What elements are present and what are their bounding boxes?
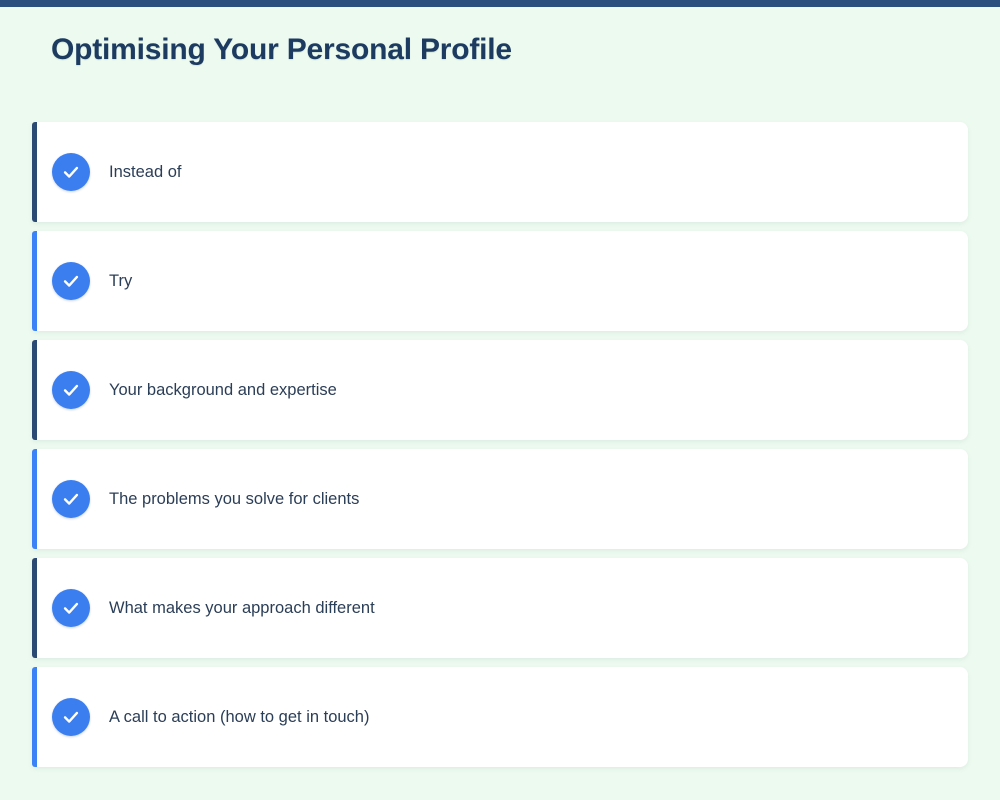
checklist-item-label: The problems you solve for clients <box>109 489 359 510</box>
check-circle-icon <box>52 262 90 300</box>
checklist-item-label: A call to action (how to get in touch) <box>109 707 369 728</box>
checklist-item[interactable]: Instead of <box>32 122 968 222</box>
checklist-item-label: What makes your approach different <box>109 598 375 619</box>
checklist-item[interactable]: What makes your approach different <box>32 558 968 658</box>
page-title: Optimising Your Personal Profile <box>51 33 512 67</box>
checklist-item-label: Try <box>109 271 132 292</box>
card-accent-bar <box>32 340 37 440</box>
check-circle-icon <box>52 589 90 627</box>
card-accent-bar <box>32 449 37 549</box>
checklist: Instead ofTryYour background and experti… <box>32 122 968 767</box>
checklist-item[interactable]: A call to action (how to get in touch) <box>32 667 968 767</box>
card-accent-bar <box>32 122 37 222</box>
checklist-item[interactable]: Your background and expertise <box>32 340 968 440</box>
checklist-item[interactable]: The problems you solve for clients <box>32 449 968 549</box>
check-circle-icon <box>52 698 90 736</box>
check-circle-icon <box>52 153 90 191</box>
checklist-item[interactable]: Try <box>32 231 968 331</box>
card-accent-bar <box>32 231 37 331</box>
checklist-item-label: Instead of <box>109 162 181 183</box>
card-accent-bar <box>32 667 37 767</box>
check-circle-icon <box>52 480 90 518</box>
card-accent-bar <box>32 558 37 658</box>
check-circle-icon <box>52 371 90 409</box>
top-accent-bar <box>0 0 1000 7</box>
checklist-item-label: Your background and expertise <box>109 380 337 401</box>
